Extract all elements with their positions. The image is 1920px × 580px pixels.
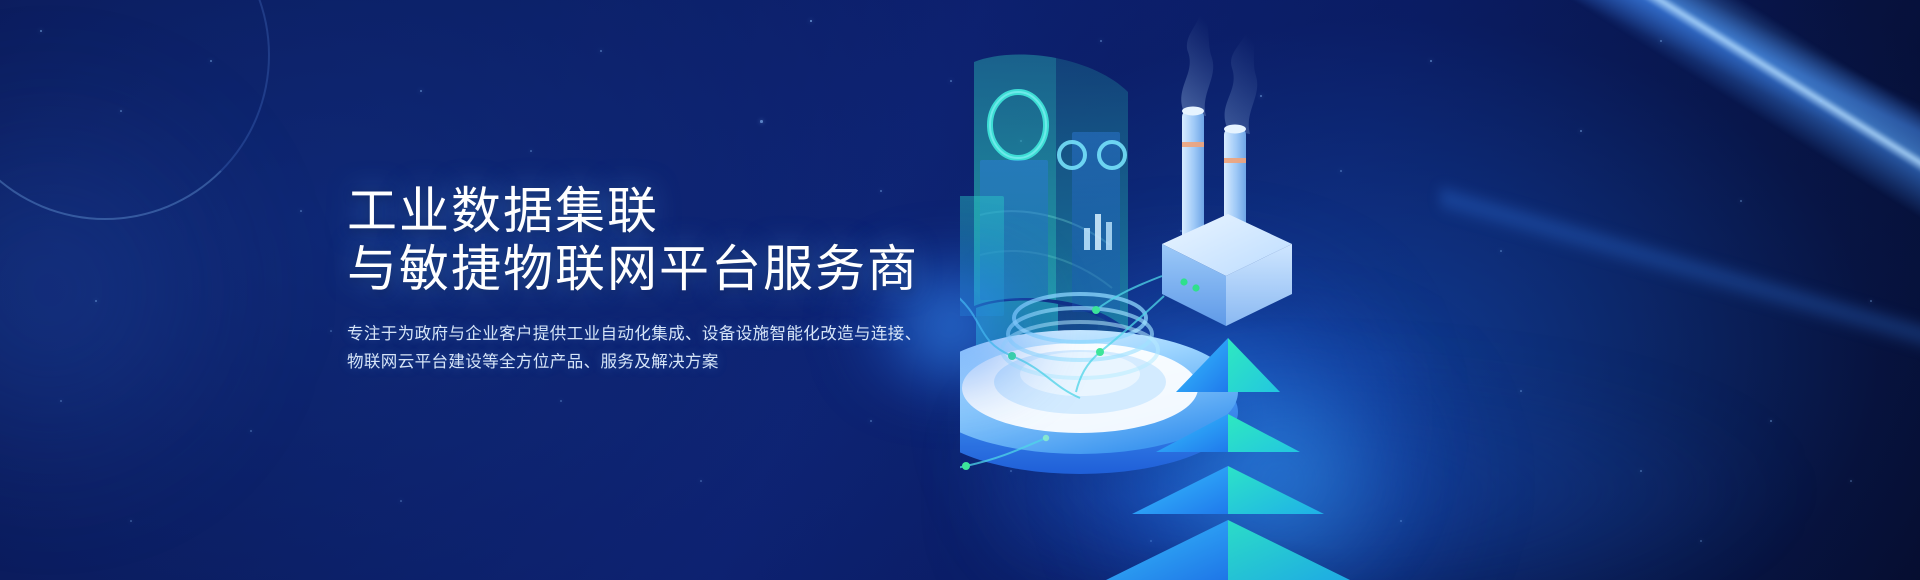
decorative-arc bbox=[0, 0, 270, 220]
iot-illustration bbox=[960, 0, 1920, 580]
hero-banner: 工业数据集联 与敏捷物联网平台服务商 专注于为政府与企业客户提供工业自动化集成、… bbox=[0, 0, 1920, 580]
chimney-pipe bbox=[1182, 110, 1204, 246]
hero-copy: 工业数据集联 与敏捷物联网平台服务商 专注于为政府与企业客户提供工业自动化集成、… bbox=[347, 182, 922, 376]
subtitle-line-2: 物联网云平台建设等全方位产品、服务及解决方案 bbox=[347, 348, 922, 376]
subtitle-line-1: 专注于为政府与企业客户提供工业自动化集成、设备设施智能化改造与连接、 bbox=[347, 320, 922, 348]
factory-chimneys bbox=[1134, 6, 1326, 334]
headline-line-1: 工业数据集联 bbox=[347, 182, 922, 240]
headline-line-2: 与敏捷物联网平台服务商 bbox=[347, 240, 922, 298]
